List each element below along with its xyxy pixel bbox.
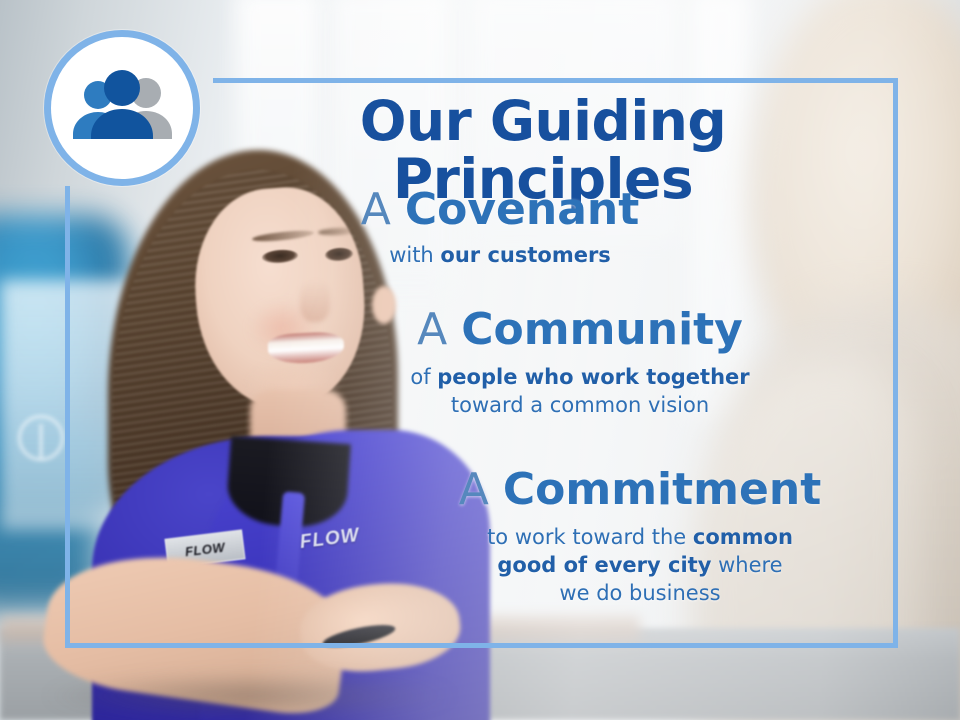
principle-covenant: A Covenant with our customers: [250, 185, 750, 269]
emphasis-text: common: [693, 525, 793, 549]
frame-border-bottom: [65, 643, 898, 648]
plain-text: to work toward the: [487, 525, 693, 549]
frame-border-left: [65, 186, 70, 648]
people-badge: [44, 30, 200, 186]
principle-article: A: [459, 464, 503, 515]
principle-heading: A Covenant: [250, 185, 750, 235]
plain-text: with: [389, 243, 440, 267]
principle-subtext-line: we do business: [400, 579, 880, 607]
principle-subtext-line: of people who work together: [330, 363, 830, 391]
principle-subtext: to work toward the commongood of every c…: [400, 523, 880, 607]
principle-word: Community: [461, 304, 743, 355]
principle-subtext-line: toward a common vision: [330, 391, 830, 419]
frame-border-top: [213, 78, 898, 83]
principle-heading: A Commitment: [400, 465, 880, 515]
plain-text: toward a common vision: [451, 393, 709, 417]
principle-commitment: A Commitment to work toward the commongo…: [400, 465, 880, 607]
plain-text: we do business: [559, 581, 720, 605]
principle-word: Commitment: [503, 464, 821, 515]
principle-article: A: [361, 184, 405, 235]
principle-word: Covenant: [405, 184, 639, 235]
principle-community: A Community of people who work togethert…: [330, 305, 830, 419]
principle-heading: A Community: [330, 305, 830, 355]
principle-subtext-line: good of every city where: [400, 551, 880, 579]
principle-article: A: [417, 304, 461, 355]
guiding-principles-graphic: FLOW FLOW Our Guiding Pri: [0, 0, 960, 720]
principle-subtext-line: with our customers: [250, 241, 750, 269]
emphasis-text: our customers: [440, 243, 610, 267]
people-group-icon: [66, 69, 178, 147]
plain-text: where: [711, 553, 782, 577]
emphasis-text: good of every city: [497, 553, 711, 577]
plain-text: of: [410, 365, 437, 389]
principle-subtext: with our customers: [250, 241, 750, 269]
emphasis-text: people who work together: [437, 365, 749, 389]
principle-subtext-line: to work toward the common: [400, 523, 880, 551]
principle-subtext: of people who work togethertoward a comm…: [330, 363, 830, 419]
frame-border-right: [893, 78, 898, 648]
